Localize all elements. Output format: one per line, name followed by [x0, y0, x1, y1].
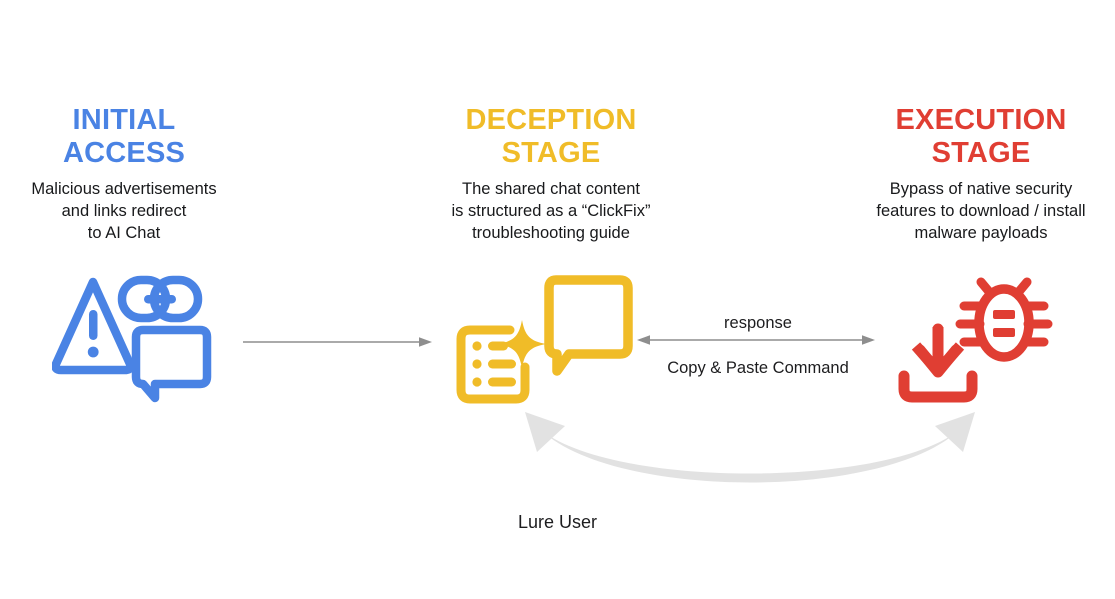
- column-title-line1: DECEPTION: [420, 104, 682, 137]
- column-title-line2: STAGE: [420, 137, 682, 170]
- bug-icon: [960, 282, 1048, 357]
- desc-line-3: to AI Chat: [88, 224, 160, 242]
- desc-line-3: malware payloads: [915, 224, 1048, 242]
- download-icon: [904, 327, 972, 397]
- column-title-line1: EXECUTION: [848, 104, 1114, 137]
- connector-lure-user-loop: [495, 404, 1005, 519]
- desc-line-2: features to download / install: [876, 202, 1085, 220]
- chat-bubble-icon: [549, 280, 628, 371]
- column-title-line1: INITIAL: [0, 104, 248, 137]
- column-initial-access: INITIAL ACCESS Malicious advertisements …: [0, 104, 248, 245]
- icon-group-initial-access: [52, 272, 222, 409]
- diagram-canvas: INITIAL ACCESS Malicious advertisements …: [0, 0, 1115, 599]
- column-title-execution-stage: EXECUTION STAGE: [848, 104, 1114, 170]
- column-execution-stage: EXECUTION STAGE Bypass of native securit…: [848, 104, 1114, 245]
- column-description-execution-stage: Bypass of native security features to do…: [848, 179, 1114, 245]
- connector-deception-to-execution: [637, 330, 875, 355]
- connector-label-response: response: [628, 314, 888, 333]
- desc-line-1: Bypass of native security: [890, 180, 1073, 198]
- chat-bubble-icon: [136, 330, 207, 398]
- column-title-line2: ACCESS: [0, 137, 248, 170]
- desc-line-1: Malicious advertisements: [31, 180, 216, 198]
- column-title-deception-stage: DECEPTION STAGE: [420, 104, 682, 170]
- icon-group-deception-stage: [456, 272, 636, 412]
- desc-line-1: The shared chat content: [462, 180, 640, 198]
- desc-line-2: is structured as a “ClickFix”: [452, 202, 651, 220]
- column-description-deception-stage: The shared chat content is structured as…: [420, 179, 682, 245]
- connector-label-lure-user: Lure User: [0, 512, 1115, 533]
- column-deception-stage: DECEPTION STAGE The shared chat content …: [420, 104, 682, 245]
- connector-label-copy-paste-command: Copy & Paste Command: [628, 359, 888, 378]
- link-icon: [122, 280, 198, 318]
- desc-line-3: troubleshooting guide: [472, 224, 630, 242]
- column-title-line2: STAGE: [848, 137, 1114, 170]
- desc-line-2: and links redirect: [62, 202, 187, 220]
- column-description-initial-access: Malicious advertisements and links redir…: [0, 179, 248, 245]
- icon-group-execution-stage: [896, 272, 1056, 412]
- column-title-initial-access: INITIAL ACCESS: [0, 104, 248, 170]
- connector-initial-to-deception: [243, 332, 433, 357]
